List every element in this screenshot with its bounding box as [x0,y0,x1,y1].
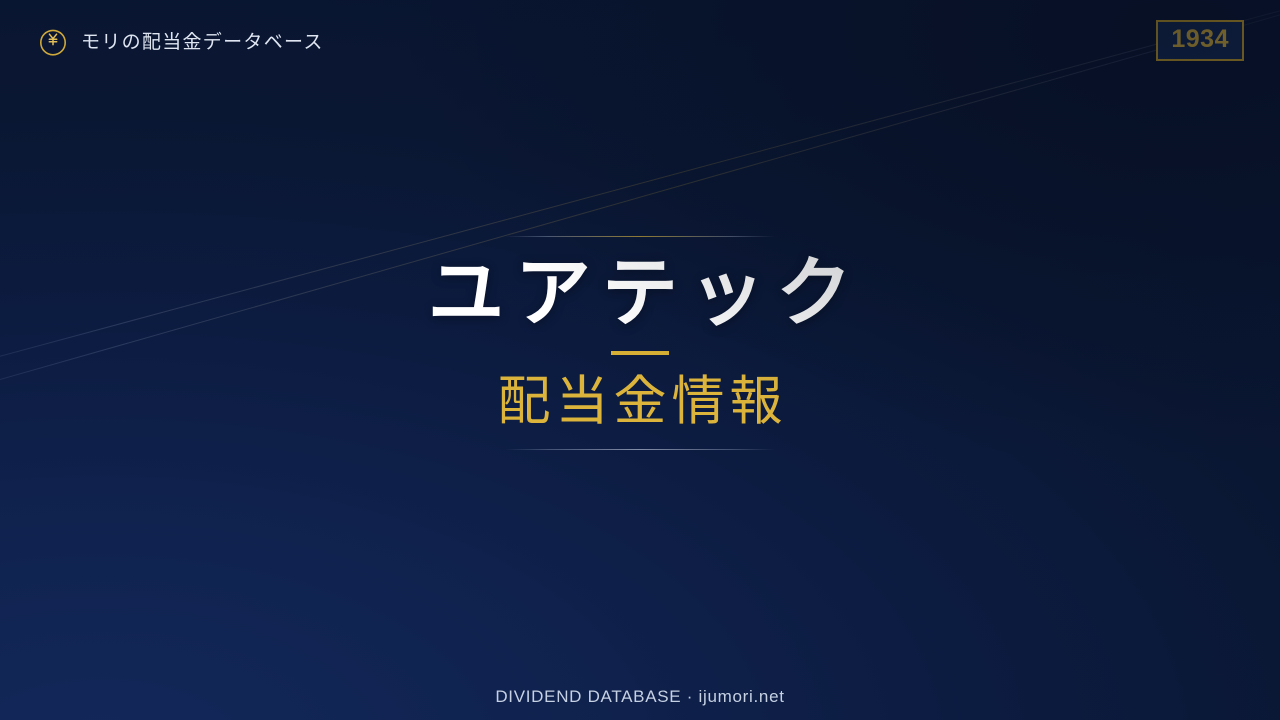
top-rule [505,236,775,237]
page-footer: DIVIDEND DATABASE · ijumori.net [0,686,1280,708]
slide-canvas: モリの配当金データベース 1934 ユアテック 配当金情報 DIVIDEND D… [0,0,1280,720]
brand[interactable]: モリの配当金データベース [38,27,324,57]
sub-title: 配当金情報 [0,372,1280,431]
title-block: ユアテック 配当金情報 [0,236,1280,450]
brand-name: モリの配当金データベース [81,33,324,52]
bottom-rule-wrap [0,449,1280,450]
company-name: ユアテック [0,253,1280,335]
yen-circle-icon [38,27,68,57]
gold-bar-divider [611,351,669,355]
page-header: モリの配当金データベース 1934 [0,0,1280,90]
footer-text: DIVIDEND DATABASE · ijumori.net [0,686,1280,708]
bottom-rule [505,449,775,450]
year-badge[interactable]: 1934 [1156,20,1244,61]
